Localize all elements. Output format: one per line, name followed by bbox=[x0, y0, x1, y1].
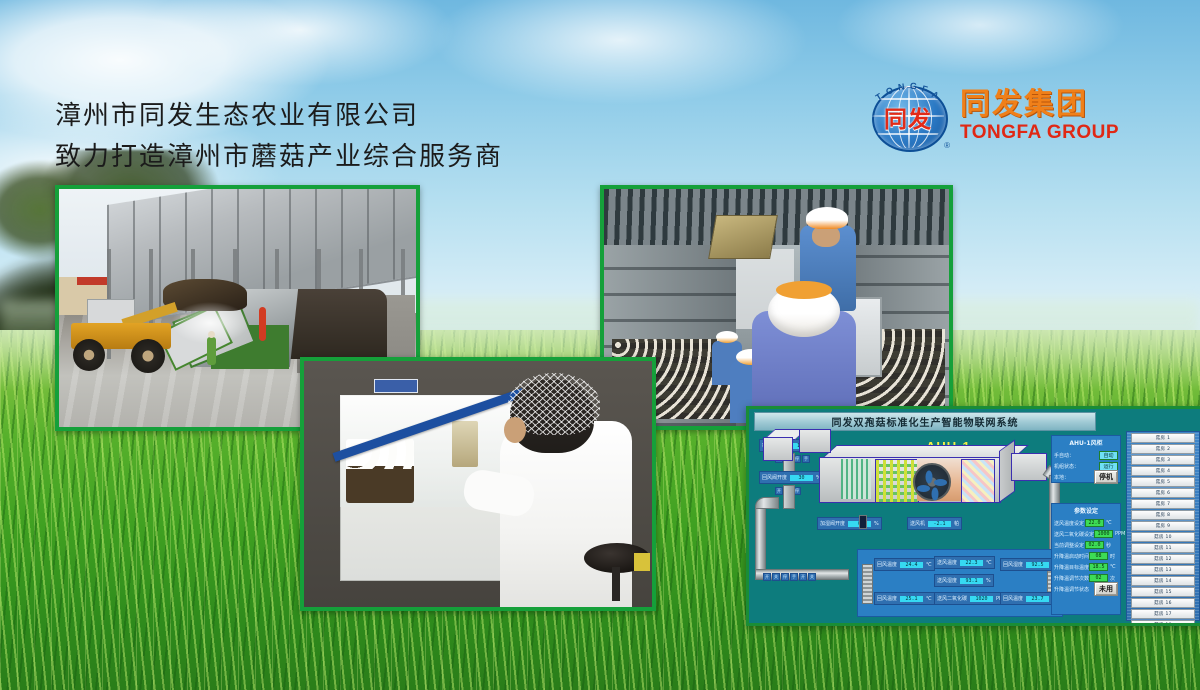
room-button-label: 菇房 12 bbox=[1154, 556, 1172, 562]
cooling-coil bbox=[841, 459, 871, 499]
hmi-title-text: 同发双孢菇标准化生产智能物联网系统 bbox=[832, 414, 1019, 429]
setpoint-panel[interactable]: 参数设定 送风温度设定 22.0 ℃ 送风二氧化碳设定 1000 PPM 当前调… bbox=[1051, 503, 1121, 615]
room-button-label: 菇房 3 bbox=[1156, 457, 1171, 463]
room-button-label: 菇房 11 bbox=[1154, 545, 1172, 551]
room-button-label: 菇房 14 bbox=[1154, 578, 1172, 584]
duct-elbow-left bbox=[755, 497, 779, 509]
worker-figure bbox=[207, 337, 216, 365]
room-button-9[interactable]: 菇房 9 bbox=[1131, 521, 1195, 531]
room-button-label: 菇房 4 bbox=[1156, 468, 1171, 474]
room-button-12[interactable]: 菇房 12 bbox=[1131, 554, 1195, 564]
supply-fan-icon[interactable] bbox=[913, 463, 951, 501]
field-supply-fan-pressure[interactable]: 送风机 -2.1 帕 bbox=[907, 517, 962, 530]
room-button-4[interactable]: 菇房 4 bbox=[1131, 466, 1195, 476]
room-button-6[interactable]: 菇房 6 bbox=[1131, 488, 1195, 498]
fan-panel-title: AHU-1风柜 bbox=[1052, 436, 1120, 449]
ahu-inlet-box bbox=[763, 437, 793, 461]
page-title: 漳州市同发生态农业有限公司 致力打造漳州市蘑菇产业综合服务商 bbox=[55, 96, 503, 178]
headline-line-1: 漳州市同发生态农业有限公司 bbox=[55, 96, 503, 137]
room-button-3[interactable]: 菇房 3 bbox=[1131, 455, 1195, 465]
field-humidifier-valve[interactable]: 加湿阀开度 0 % bbox=[817, 517, 882, 530]
setpoint-row-target-temp[interactable]: 升降温目标温度 18.5 ℃ bbox=[1054, 562, 1118, 572]
room-button-2[interactable]: 菇房 2 bbox=[1131, 444, 1195, 454]
duct-left-vertical bbox=[755, 505, 766, 579]
logo-globe-text: 同发 bbox=[876, 100, 940, 134]
room-button-11[interactable]: 菇房 11 bbox=[1131, 543, 1195, 553]
setpoint-panel-title: 参数设定 bbox=[1052, 504, 1120, 517]
room-button-label: 菇房 6 bbox=[1156, 490, 1171, 496]
headline-line-2: 致力打造漳州市蘑菇产业综合服务商 bbox=[55, 137, 503, 178]
room-button-label: 菇房 9 bbox=[1156, 523, 1171, 529]
room-button-label: 菇房 10 bbox=[1154, 534, 1172, 540]
globe-icon: T O N G F A 同发 ® bbox=[866, 80, 952, 152]
room-button-label: 菇房 15 bbox=[1154, 589, 1172, 595]
room-button-label: 菇房 5 bbox=[1156, 479, 1171, 485]
room-sensor-group: 回风温度 24.4 ℃ 回风温度 25.1 ℃ 送风温度 22.3 ℃ 送风湿度… bbox=[857, 549, 1063, 617]
field-supply-humidity[interactable]: 送风湿度 93.1 % bbox=[934, 574, 994, 587]
setpoint-row-supply-temp[interactable]: 送风温度设定 22.0 ℃ bbox=[1054, 518, 1118, 528]
fan-panel-row-auto: 手自动： 自动 bbox=[1054, 450, 1118, 460]
room-button-7[interactable]: 菇房 7 bbox=[1131, 499, 1195, 509]
room-button-label: 菇房 17 bbox=[1154, 611, 1172, 617]
room-button-13[interactable]: 菇房 13 bbox=[1131, 565, 1195, 575]
humidifier-pump-icon[interactable] bbox=[859, 515, 867, 529]
room-button-label: 菇房 13 bbox=[1154, 567, 1172, 573]
room-button-8[interactable]: 菇房 8 bbox=[1131, 510, 1195, 520]
room-button-list[interactable]: 菇房 1菇房 2菇房 3菇房 4菇房 5菇房 6菇房 7菇房 8菇房 9菇房 1… bbox=[1126, 431, 1200, 621]
room-button-label: 菇房 7 bbox=[1156, 501, 1171, 507]
lab-stool bbox=[584, 543, 650, 603]
fan-status-panel[interactable]: AHU-1风柜 手自动： 自动 机组状态： 运行 本地： 停机 bbox=[1051, 435, 1121, 483]
fan-panel-row-action[interactable]: 本地： 停机 bbox=[1054, 472, 1118, 482]
field-return-air-damper[interactable]: 回风阀开度 30 % bbox=[759, 471, 824, 484]
room-button-14[interactable]: 菇房 14 bbox=[1131, 576, 1195, 586]
ahu-inlet-box-2 bbox=[799, 429, 831, 453]
poster-canvas: 漳州市同发生态农业有限公司 致力打造漳州市蘑菇产业综合服务商 T O N G F… bbox=[0, 0, 1200, 690]
room-button-16[interactable]: 菇房 16 bbox=[1131, 598, 1195, 608]
wheel-loader bbox=[69, 299, 177, 369]
field-supply-temp[interactable]: 送风温度 22.3 ℃ bbox=[934, 556, 995, 569]
room-button-label: 菇房 8 bbox=[1156, 512, 1171, 518]
hmi-scada-panel[interactable]: 同发双孢菇标准化生产智能物联网系统 AHU-1 新风阀开度 100 % 开关 停… bbox=[746, 406, 1200, 626]
unused-button[interactable]: 未用 bbox=[1094, 582, 1118, 596]
room-button-1[interactable]: 菇房 1 bbox=[1131, 433, 1195, 443]
photo-laboratory bbox=[300, 357, 656, 611]
duct-tags-left[interactable]: 开关 停手 开关 bbox=[763, 573, 816, 581]
room-button-15[interactable]: 菇房 15 bbox=[1131, 587, 1195, 597]
ahu-outlet-box bbox=[1011, 453, 1047, 481]
bench-label-plate bbox=[374, 379, 418, 393]
setpoint-row-start-time[interactable]: 升降温启动时间 08 时 bbox=[1054, 551, 1118, 561]
field-supply-co2[interactable]: 送风二氧化碳 1020 PPM bbox=[934, 592, 1009, 605]
room-button-label: 菇房 16 bbox=[1154, 600, 1172, 606]
damper-actuator-return[interactable] bbox=[783, 485, 795, 509]
room-button-5[interactable]: 菇房 5 bbox=[1131, 477, 1195, 487]
room-button-17[interactable]: 菇房 17 bbox=[1131, 609, 1195, 619]
setpoint-row-state[interactable]: 升降温调节状态 未用 bbox=[1054, 584, 1118, 594]
company-logo: T O N G F A 同发 ® 同发集团 TONGFA GROUP bbox=[866, 80, 1119, 152]
setpoint-row-adjust[interactable]: 当前调整设定 02.0 秒 bbox=[1054, 540, 1118, 550]
setpoint-row-supply-co2[interactable]: 送风二氧化碳设定 1000 PPM bbox=[1054, 529, 1118, 539]
field-return-temp-2[interactable]: 回风温度 25.1 ℃ bbox=[874, 592, 935, 605]
registered-mark: ® bbox=[944, 141, 950, 150]
stop-button[interactable]: 停机 bbox=[1094, 470, 1118, 484]
room-button-label: 菇房 2 bbox=[1156, 446, 1171, 452]
logo-name-cn: 同发集团 bbox=[960, 90, 1119, 120]
room-button-label: 菇房 1 bbox=[1156, 435, 1171, 441]
room-button-10[interactable]: 菇房 10 bbox=[1131, 532, 1195, 542]
field-return-temp-1[interactable]: 回风温度 24.4 ℃ bbox=[874, 558, 935, 571]
room-damper-left[interactable] bbox=[862, 564, 873, 604]
room-button-18[interactable]: 菇房 18 bbox=[1131, 620, 1195, 626]
logo-name-en: TONGFA GROUP bbox=[960, 123, 1119, 142]
air-filter-section bbox=[961, 459, 995, 503]
room-button-label: 菇房 18 bbox=[1154, 622, 1172, 626]
